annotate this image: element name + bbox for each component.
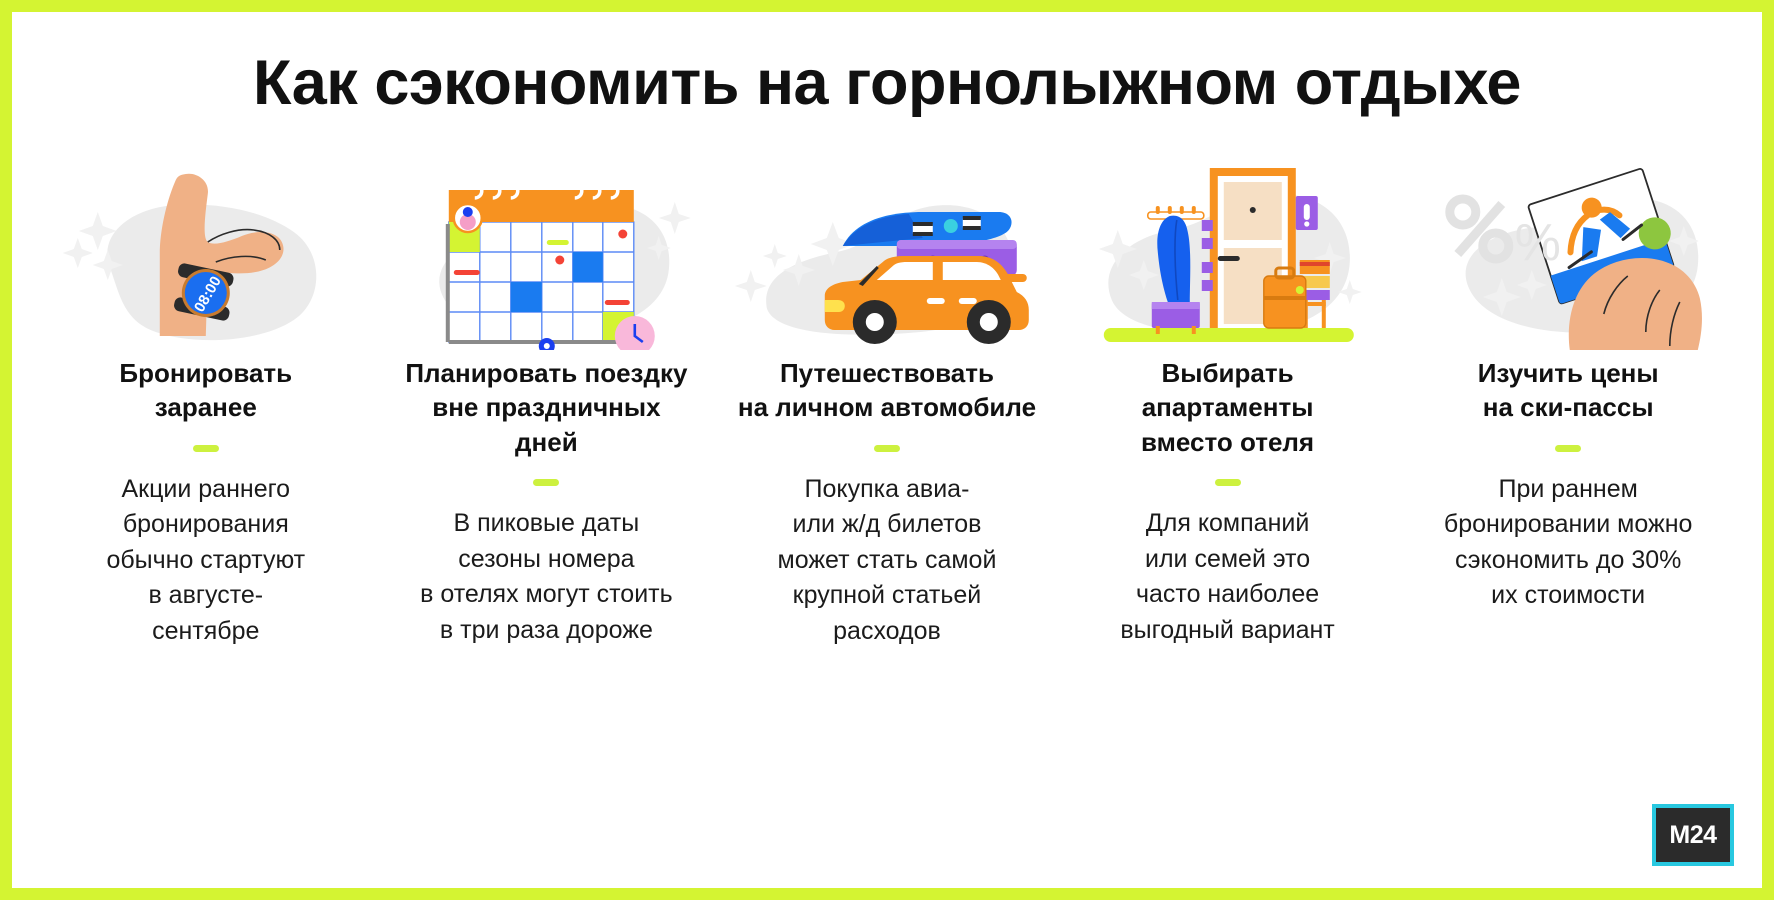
tip-card-book-in-advance: 08:00 Бронировать заранее Акции раннего … [46, 150, 366, 649]
logo-text: M24 [1669, 821, 1716, 850]
apartment-hallway-door-icon [1068, 150, 1388, 350]
card-body: При раннем бронировании можно сэкономить… [1444, 472, 1693, 614]
card-body: Покупка авиа- или ж/д билетов может стат… [778, 472, 997, 650]
card-title: Изучить цены на ски-пассы [1478, 356, 1659, 425]
tip-card-avoid-holidays: Планировать поездку вне праздничных дней… [387, 150, 707, 648]
wall-calendar-icon [387, 150, 707, 350]
divider-dash [1555, 445, 1581, 452]
card-body: Для компаний или семей это часто наиболе… [1120, 506, 1334, 648]
m24-logo: M24 [1652, 804, 1734, 866]
tip-card-travel-by-car: Путешествовать на личном автомобиле Поку… [727, 150, 1047, 649]
card-body: В пиковые даты сезоны номера в отелях мо… [420, 506, 673, 648]
tip-card-ski-pass-prices: % Изучить цены на ски-пассы При раннем б… [1408, 150, 1728, 614]
tip-card-apartments: Выбирать апартаменты вместо отеля Для ко… [1068, 150, 1388, 648]
percent-symbol: % [1515, 214, 1561, 272]
divider-dash [1215, 479, 1241, 486]
poster-inner-canvas: Как сэкономить на горнолыжном отдыхе [12, 12, 1762, 888]
divider-dash [193, 445, 219, 452]
infographic-poster: Как сэкономить на горнолыжном отдыхе [0, 0, 1774, 900]
card-body: Акции раннего бронирования обычно старту… [106, 472, 305, 650]
page-title: Как сэкономить на горнолыжном отдыхе [12, 12, 1762, 116]
card-title: Путешествовать на личном автомобиле [738, 356, 1036, 425]
car-with-snowboard-icon [727, 150, 1047, 350]
tips-columns: 08:00 Бронировать заранее Акции раннего … [12, 150, 1762, 649]
hand-with-smartwatch-icon: 08:00 [46, 150, 366, 350]
divider-dash [533, 479, 559, 486]
hand-holding-ski-pass-icon: % [1408, 150, 1728, 350]
divider-dash [874, 445, 900, 452]
card-title: Выбирать апартаменты вместо отеля [1141, 356, 1314, 459]
card-title: Бронировать заранее [119, 356, 292, 425]
card-title: Планировать поездку вне праздничных дней [405, 356, 687, 459]
